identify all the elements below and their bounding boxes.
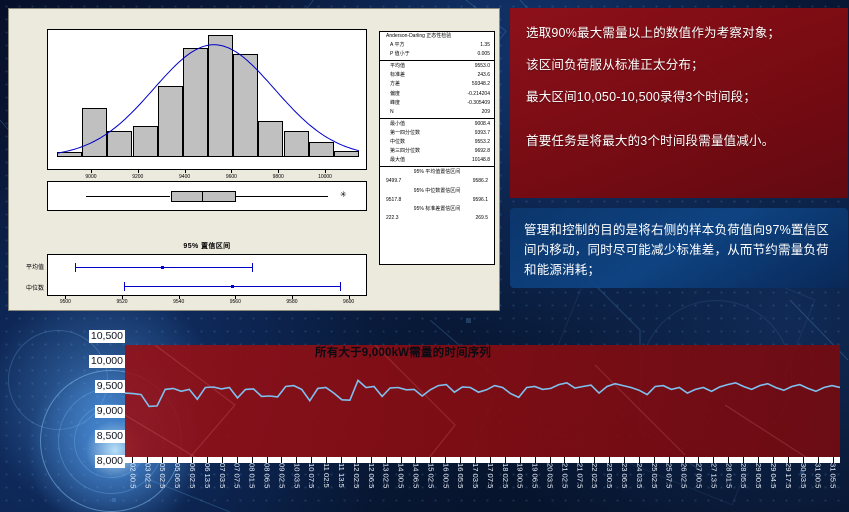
timeseries-x-tick-label: 29 00:5 xyxy=(754,463,762,488)
ci-stdev-high: 269.5 xyxy=(475,214,488,223)
timeseries-tick-mark xyxy=(505,457,506,463)
table-row: 标准差 243.6 xyxy=(380,71,494,80)
median-label: 中位数 xyxy=(390,138,405,147)
boxplot-whisker xyxy=(86,196,171,197)
red-line-3: 最大区间10,050-10,500录得3个时间段； xyxy=(526,86,756,105)
timeseries-x-tick-label: 16 05:5 xyxy=(456,463,464,488)
timeseries-y-tick-label: 8,000 xyxy=(95,455,125,468)
timeseries-x-tick-label: 14 00:5 xyxy=(397,463,405,488)
red-line-1: 选取90%最大需量以上的数值作为考察对象； xyxy=(526,22,780,41)
timeseries-tick-mark xyxy=(818,457,819,463)
boxplot-whisker xyxy=(236,196,328,197)
timeseries-x-tick-label: 23 00:5 xyxy=(605,463,613,488)
timeseries-x-tick-label: 12 06:5 xyxy=(367,463,375,488)
variance-label: 方差 xyxy=(390,80,400,89)
min-label: 最小值 xyxy=(390,120,405,129)
timeseries-tick-mark xyxy=(758,457,759,463)
timeseries-tick-mark xyxy=(267,457,268,463)
red-line-2: 该区间负荷服从标准正太分布； xyxy=(526,54,704,73)
timeseries-tick-mark xyxy=(788,457,789,463)
boxplot-plot-area: ✳ xyxy=(47,181,367,211)
boxplot-box xyxy=(171,191,237,202)
timeseries-tick-mark xyxy=(296,457,297,463)
timeseries-line xyxy=(125,345,840,463)
q1-value: 9393.7 xyxy=(475,129,490,138)
table-row: 最小值 9008.4 xyxy=(380,120,494,129)
boxplot-outlier: ✳ xyxy=(340,191,347,199)
histogram-x-tick xyxy=(185,170,186,173)
ad-test-title: Anderson-Darling 正态性检验 xyxy=(386,32,451,41)
timeseries-tick-mark xyxy=(222,457,223,463)
timeseries-x-tick-label: 19 06:5 xyxy=(531,463,539,488)
timeseries-tick-mark xyxy=(743,457,744,463)
timeseries-y-axis: 10,50010,0009,5009,0008,5008,000 xyxy=(78,330,125,470)
timeseries-x-tick-label: 28 01:5 xyxy=(724,463,732,488)
histogram-x-tick-label: 10000 xyxy=(318,174,332,180)
stdev-label: 标准差 xyxy=(390,71,405,80)
timeseries-chart xyxy=(125,345,840,463)
timeseries-tick-mark xyxy=(684,457,685,463)
timeseries-tick-mark xyxy=(445,457,446,463)
timeseries-x-tick-label: 26 02:5 xyxy=(680,463,688,488)
ci-median-low: 9517.8 xyxy=(386,196,401,205)
timeseries-x-tick-label: 11 02:5 xyxy=(322,463,330,488)
variance-value: 59348.2 xyxy=(472,80,490,89)
table-row: 222.3 269.5 xyxy=(380,214,494,223)
blue-line-2: 间内移动，同时尽可能减少标准差，从而节约需量负荷 xyxy=(524,239,829,258)
ci-mean-title: 95% 平均值置信区间 xyxy=(380,168,494,177)
table-row: 9517.8 9596.1 xyxy=(380,196,494,205)
timeseries-x-tick-label: 05 06:5 xyxy=(173,463,181,488)
histogram-plot-area xyxy=(47,29,367,170)
timeseries-x-tick-label: 03 02:5 xyxy=(143,463,151,488)
ci-cap xyxy=(252,263,253,272)
ci-stdev-title: 95% 标准差置信区间 xyxy=(380,205,494,214)
skewness-label: 偏度 xyxy=(390,90,400,99)
p-value-label: P 值小于 xyxy=(390,50,410,59)
q3-label: 第三四分位数 xyxy=(390,147,420,156)
timeseries-y-tick-label: 10,000 xyxy=(89,355,125,368)
timeseries-x-tick-label: 07 07:5 xyxy=(233,463,241,488)
timeseries-tick-mark xyxy=(341,457,342,463)
ci-median-title: 95% 中位数置信区间 xyxy=(380,187,494,196)
table-row: 9499.7 9586.2 xyxy=(380,177,494,186)
timeseries-x-tick-label: 09 02:5 xyxy=(277,463,285,488)
ci-mean-low: 9499.7 xyxy=(386,177,401,186)
timeseries-x-tick-label: 30 03:5 xyxy=(799,463,807,488)
blue-line-3: 和能源消耗； xyxy=(524,259,600,278)
histogram-x-tick xyxy=(91,170,92,173)
timeseries-x-tick-label: 12 02:5 xyxy=(352,463,360,488)
table-row: 中位数 9553.2 xyxy=(380,138,494,147)
histogram-x-tick xyxy=(278,170,279,173)
table-row: N 209 xyxy=(380,108,494,117)
table-row: 峰度 -0.305409 xyxy=(380,99,494,108)
table-row: P 值小于 0.005 xyxy=(380,50,494,59)
statistics-panel: 9000920094009600980010000 ✳ 95% 置信区间 平均值… xyxy=(8,8,500,311)
timeseries-x-tick-label: 14 06:5 xyxy=(411,463,419,488)
timeseries-x-tick-label: 10 07:5 xyxy=(307,463,315,488)
table-row: 最大值 10148.8 xyxy=(380,156,494,165)
min-value: 9008.4 xyxy=(475,120,490,129)
timeseries-x-tick-label: 17 03:5 xyxy=(471,463,479,488)
timeseries-tick-mark xyxy=(326,457,327,463)
timeseries-x-tick-label: 31 00:5 xyxy=(814,463,822,488)
timeseries-tick-mark xyxy=(773,457,774,463)
timeseries-x-axis: 02 00:503 02:505 02:505 06:506 02:506 13… xyxy=(125,463,840,509)
histogram-x-tick-label: 9000 xyxy=(85,174,96,180)
timeseries-tick-mark xyxy=(669,457,670,463)
divider xyxy=(380,118,494,119)
timeseries-tick-mark xyxy=(639,457,640,463)
timeseries-y-tick-label: 9,500 xyxy=(95,380,125,393)
timeseries-tick-mark xyxy=(430,457,431,463)
timeseries-tick-mark xyxy=(147,457,148,463)
timeseries-tick-mark xyxy=(490,457,491,463)
ci-point xyxy=(231,285,234,288)
timeseries-x-tick-label: 08 06:5 xyxy=(263,463,271,488)
divider xyxy=(380,166,494,167)
timeseries-x-tick-label: 16 00:5 xyxy=(441,463,449,488)
n-value: 209 xyxy=(482,108,490,117)
mean-label: 平均值 xyxy=(390,62,405,71)
blue-line-1: 管理和控制的目的是将右侧的样本负荷值向97%置信区 xyxy=(524,219,829,238)
timeseries-title: 所有大于9,000kW需量的时间序列 xyxy=(315,344,491,360)
timeseries-tick-mark xyxy=(535,457,536,463)
max-value: 10148.8 xyxy=(472,156,490,165)
timeseries-y-tick-label: 10,500 xyxy=(89,330,125,343)
ci-row-label-mean: 平均值 xyxy=(14,262,44,271)
table-row: 偏度 -0.214204 xyxy=(380,90,494,99)
timeseries-x-tick-label: 07 03:5 xyxy=(218,463,226,488)
table-row: 第三四分位数 9692.8 xyxy=(380,147,494,156)
median-value: 9553.2 xyxy=(475,138,490,147)
ci-plot-area xyxy=(47,254,367,296)
timeseries-tick-mark xyxy=(371,457,372,463)
ci-point xyxy=(161,266,164,269)
ad-stat-label: A 平方 xyxy=(390,41,404,50)
histogram-x-tick xyxy=(325,170,326,173)
timeseries-tick-mark xyxy=(356,457,357,463)
ci-x-tick-label: 9580 xyxy=(286,299,297,305)
timeseries-x-tick-label: 06 13:5 xyxy=(203,463,211,488)
ci-x-tick-label: 9520 xyxy=(116,299,127,305)
table-header-row: Anderson-Darling 正态性检验 xyxy=(380,32,494,41)
timeseries-tick-mark xyxy=(252,457,253,463)
timeseries-x-tick-label: 11 13:5 xyxy=(337,463,345,488)
timeseries-tick-mark xyxy=(415,457,416,463)
ci-x-axis: 950095209540956095809600 xyxy=(47,296,367,308)
timeseries-x-tick-label: 21 07:5 xyxy=(575,463,583,488)
histogram-x-tick-label: 9200 xyxy=(132,174,143,180)
stdev-value: 243.6 xyxy=(477,71,490,80)
timeseries-tick-mark xyxy=(162,457,163,463)
ci-x-tick-label: 9500 xyxy=(60,299,71,305)
ci-stdev-low: 222.3 xyxy=(386,214,399,223)
table-row: 平均值 9553.0 xyxy=(380,62,494,71)
timeseries-x-tick-label: 27 00:5 xyxy=(694,463,702,488)
timeseries-x-tick-label: 06 02:5 xyxy=(188,463,196,488)
timeseries-x-tick-label: 29 04:5 xyxy=(769,463,777,488)
table-row: 第一四分位数 9393.7 xyxy=(380,129,494,138)
ci-x-tick-label: 9540 xyxy=(173,299,184,305)
timeseries-x-tick-label: 17 07:5 xyxy=(486,463,494,488)
timeseries-x-tick-label: 27 13:5 xyxy=(709,463,717,488)
timeseries-x-tick-label: 28 05:5 xyxy=(739,463,747,488)
timeseries-tick-mark xyxy=(401,457,402,463)
ci-x-tick-label: 9560 xyxy=(230,299,241,305)
timeseries-x-tick-label: 31 05:5 xyxy=(829,463,837,488)
timeseries-tick-mark xyxy=(728,457,729,463)
q1-label: 第一四分位数 xyxy=(390,129,420,138)
timeseries-x-tick-label: 25 07:5 xyxy=(665,463,673,488)
ci-cap xyxy=(124,282,125,291)
ci-cap xyxy=(75,263,76,272)
histogram-x-tick-label: 9400 xyxy=(179,174,190,180)
timeseries-x-tick-label: 20 03:5 xyxy=(546,463,554,488)
timeseries-tick-mark xyxy=(207,457,208,463)
timeseries-tick-mark xyxy=(460,457,461,463)
skewness-value: -0.214204 xyxy=(467,90,490,99)
timeseries-x-tick-label: 21 02:5 xyxy=(560,463,568,488)
ci-x-tick-label: 9600 xyxy=(343,299,354,305)
timeseries-x-tick-label: 10 03:5 xyxy=(292,463,300,488)
timeseries-x-tick-label: 08 01:5 xyxy=(248,463,256,488)
histogram-x-tick xyxy=(231,170,232,173)
n-label: N xyxy=(390,108,394,117)
timeseries-tick-mark xyxy=(550,457,551,463)
timeseries-tick-mark xyxy=(624,457,625,463)
ci-row-label-median: 中位数 xyxy=(14,283,44,292)
histogram-x-tick-label: 9800 xyxy=(273,174,284,180)
timeseries-y-tick-label: 8,500 xyxy=(95,430,125,443)
timeseries-tick-mark xyxy=(594,457,595,463)
kurtosis-label: 峰度 xyxy=(390,99,400,108)
blue-callout-panel: 管理和控制的目的是将右侧的样本负荷值向97%置信区 间内移动，同时尽可能减少标准… xyxy=(510,208,848,288)
kurtosis-value: -0.305409 xyxy=(467,99,490,108)
timeseries-tick-mark xyxy=(475,457,476,463)
timeseries-x-tick-label: 15 02:5 xyxy=(426,463,434,488)
timeseries-tick-mark xyxy=(833,457,834,463)
timeseries-tick-mark xyxy=(281,457,282,463)
mean-value: 9553.0 xyxy=(475,62,490,71)
histogram-x-tick xyxy=(138,170,139,173)
timeseries-x-tick-label: 13 02:5 xyxy=(382,463,390,488)
histogram-x-tick-label: 9600 xyxy=(226,174,237,180)
timeseries-tick-mark xyxy=(132,457,133,463)
timeseries-tick-mark xyxy=(803,457,804,463)
ci-cap xyxy=(340,282,341,291)
timeseries-tick-mark xyxy=(192,457,193,463)
timeseries-tick-mark xyxy=(654,457,655,463)
timeseries-x-tick-label: 05 02:5 xyxy=(158,463,166,488)
timeseries-x-tick-label: 29 17:5 xyxy=(784,463,792,488)
timeseries-tick-mark xyxy=(177,457,178,463)
table-row: 方差 59348.2 xyxy=(380,80,494,89)
table-row: A 平方 1.35 xyxy=(380,41,494,50)
histogram-normal-curve xyxy=(47,29,367,170)
timeseries-x-tick-label: 18 02:5 xyxy=(501,463,509,488)
timeseries-x-tick-label: 24 03:5 xyxy=(635,463,643,488)
timeseries-y-tick-label: 9,000 xyxy=(95,405,125,418)
ci-median-high: 9596.1 xyxy=(473,196,488,205)
timeseries-tick-mark xyxy=(311,457,312,463)
timeseries-tick-mark xyxy=(713,457,714,463)
timeseries-tick-mark xyxy=(386,457,387,463)
divider xyxy=(380,60,494,61)
timeseries-tick-mark xyxy=(609,457,610,463)
boxplot-median-line xyxy=(202,191,203,202)
timeseries-x-tick-label: 23 06:5 xyxy=(620,463,628,488)
timeseries-tick-mark xyxy=(698,457,699,463)
q3-value: 9692.8 xyxy=(475,147,490,156)
timeseries-x-tick-label: 02 00:5 xyxy=(128,463,136,488)
ci-chart-title: 95% 置信区间 xyxy=(47,241,367,251)
max-label: 最大值 xyxy=(390,156,405,165)
timeseries-x-tick-label: 22 02:5 xyxy=(590,463,598,488)
timeseries-x-tick-label: 19 00:5 xyxy=(516,463,524,488)
red-callout-panel: 选取90%最大需量以上的数值作为考察对象； 该区间负荷服从标准正太分布； 最大区… xyxy=(510,8,848,198)
timeseries-tick-mark xyxy=(520,457,521,463)
p-value-value: 0.005 xyxy=(477,50,490,59)
timeseries-tick-mark xyxy=(237,457,238,463)
timeseries-tick-mark xyxy=(564,457,565,463)
statistics-table: Anderson-Darling 正态性检验 A 平方 1.35 P 值小于 0… xyxy=(379,31,495,265)
ad-stat-value: 1.35 xyxy=(480,41,490,50)
ci-mean-high: 9586.2 xyxy=(473,177,488,186)
timeseries-x-tick-label: 25 02:5 xyxy=(650,463,658,488)
timeseries-tick-mark xyxy=(579,457,580,463)
red-line-4: 首要任务是将最大的3个时间段需量值减小。 xyxy=(526,130,774,149)
